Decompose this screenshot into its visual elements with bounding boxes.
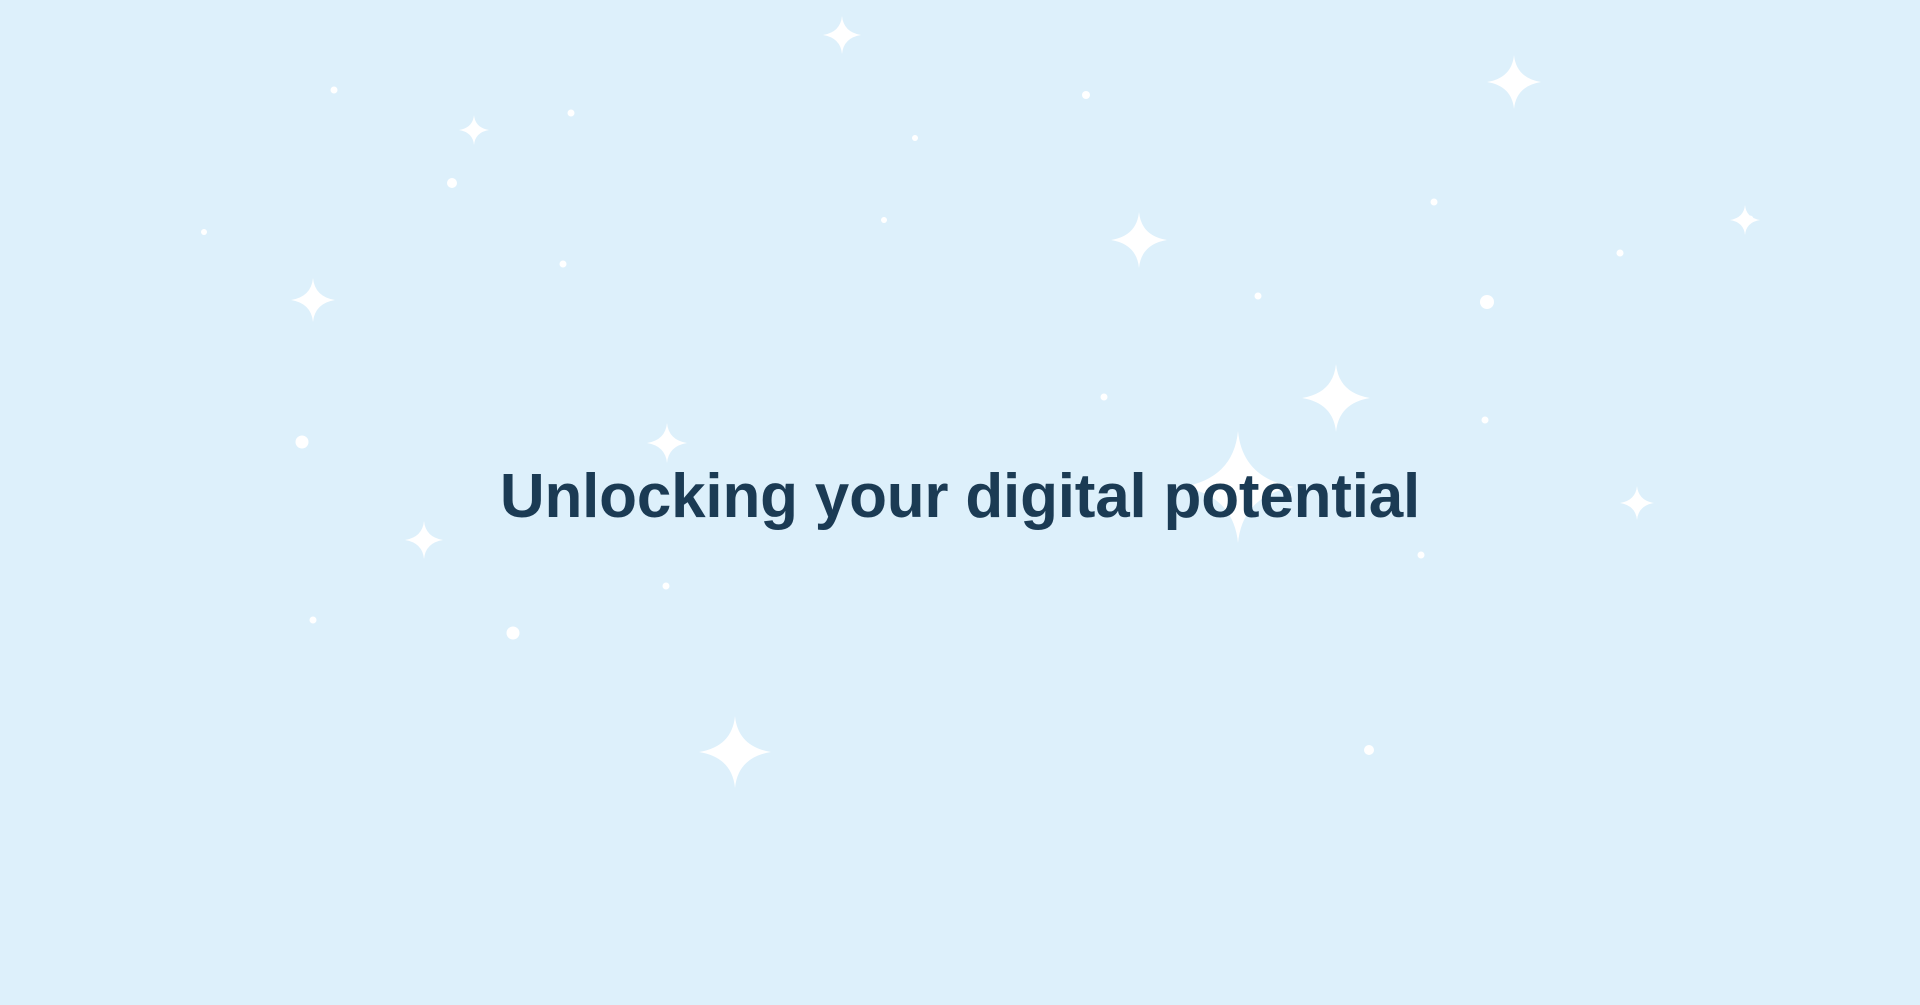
hero-section: Unlocking your digital potential: [0, 0, 1920, 1005]
page-title: Unlocking your digital potential: [500, 461, 1420, 532]
headline-container: Unlocking your digital potential: [0, 0, 1920, 1005]
